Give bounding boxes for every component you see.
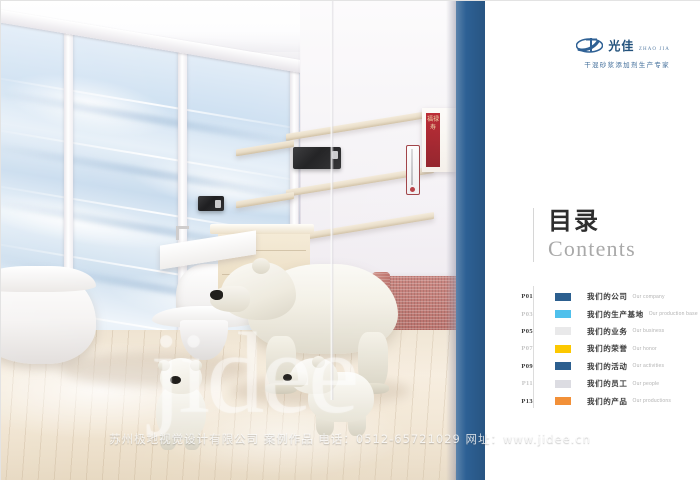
entry-page-number: P01 [495,293,533,300]
entry-label-en: Our activities [633,363,665,369]
entry-label-en: Our honor [633,346,657,352]
company-logo: 光佳 ZHAO JIA 干混砂浆添加剂生产专家 [576,36,670,69]
photo-haze [0,0,456,480]
contents-heading: 目录 Contents [533,208,636,262]
contents-title-cn: 目录 [548,208,636,234]
entry-label-en: Our people [633,381,660,387]
swoosh-logo-icon [576,36,603,55]
page-fold-shadow [446,0,456,480]
entry-page-number: P07 [495,345,533,352]
entry-label-en: Our company [633,294,665,300]
entry-page-number: P03 [495,311,533,318]
company-slogan: 干混砂浆添加剂生产专家 [576,59,670,69]
contents-entry[interactable]: P01我们的公司Our company [495,288,700,305]
entry-label-cn: 我们的产品 [587,396,628,407]
brochure-spread: 福禄寿 [0,0,700,480]
entry-color-swatch [555,362,571,370]
entry-label-cn: 我们的活动 [587,361,628,372]
entry-color-swatch [555,310,571,318]
entry-color-swatch [555,327,571,335]
entry-label-cn: 我们的生产基地 [587,309,644,320]
entry-color-swatch [555,380,571,388]
entry-label-cn: 我们的荣誉 [587,343,628,354]
contents-entry[interactable]: P11我们的员工Our people [495,375,700,392]
contents-entry[interactable]: P09我们的活动Our activities [495,358,700,375]
contents-list: P01我们的公司Our companyP03我们的生产基地Our product… [495,288,700,410]
entry-page-number: P11 [495,380,533,387]
entry-label-cn: 我们的业务 [587,326,628,337]
contents-title-en: Contents [548,236,636,262]
logo-text-group: 光佳 ZHAO JIA [608,37,670,55]
contents-entry[interactable]: P07我们的荣誉Our honor [495,340,700,357]
blue-spine-bar [456,0,485,480]
entry-label-en: Our business [633,328,665,334]
entry-color-swatch [555,397,571,405]
entry-label-en: Our production base [649,311,698,317]
logo-name-cn: 光佳 [608,39,634,53]
contents-entry[interactable]: P03我们的生产基地Our production base [495,305,700,322]
contents-page: 光佳 ZHAO JIA 干混砂浆添加剂生产专家 目录 Contents P01我… [485,0,700,480]
cover-photo: 福禄寿 [0,0,456,480]
entry-page-number: P13 [495,398,533,405]
entry-color-swatch [555,293,571,301]
entry-label-cn: 我们的公司 [587,291,628,302]
contents-entry[interactable]: P05我们的业务Our business [495,323,700,340]
entry-color-swatch [555,345,571,353]
contents-entry[interactable]: P13我们的产品Our productions [495,392,700,409]
entry-page-number: P09 [495,363,533,370]
entry-label-en: Our productions [633,398,672,404]
entry-page-number: P05 [495,328,533,335]
logo-name-en: ZHAO JIA [639,47,670,52]
entry-label-cn: 我们的员工 [587,378,628,389]
